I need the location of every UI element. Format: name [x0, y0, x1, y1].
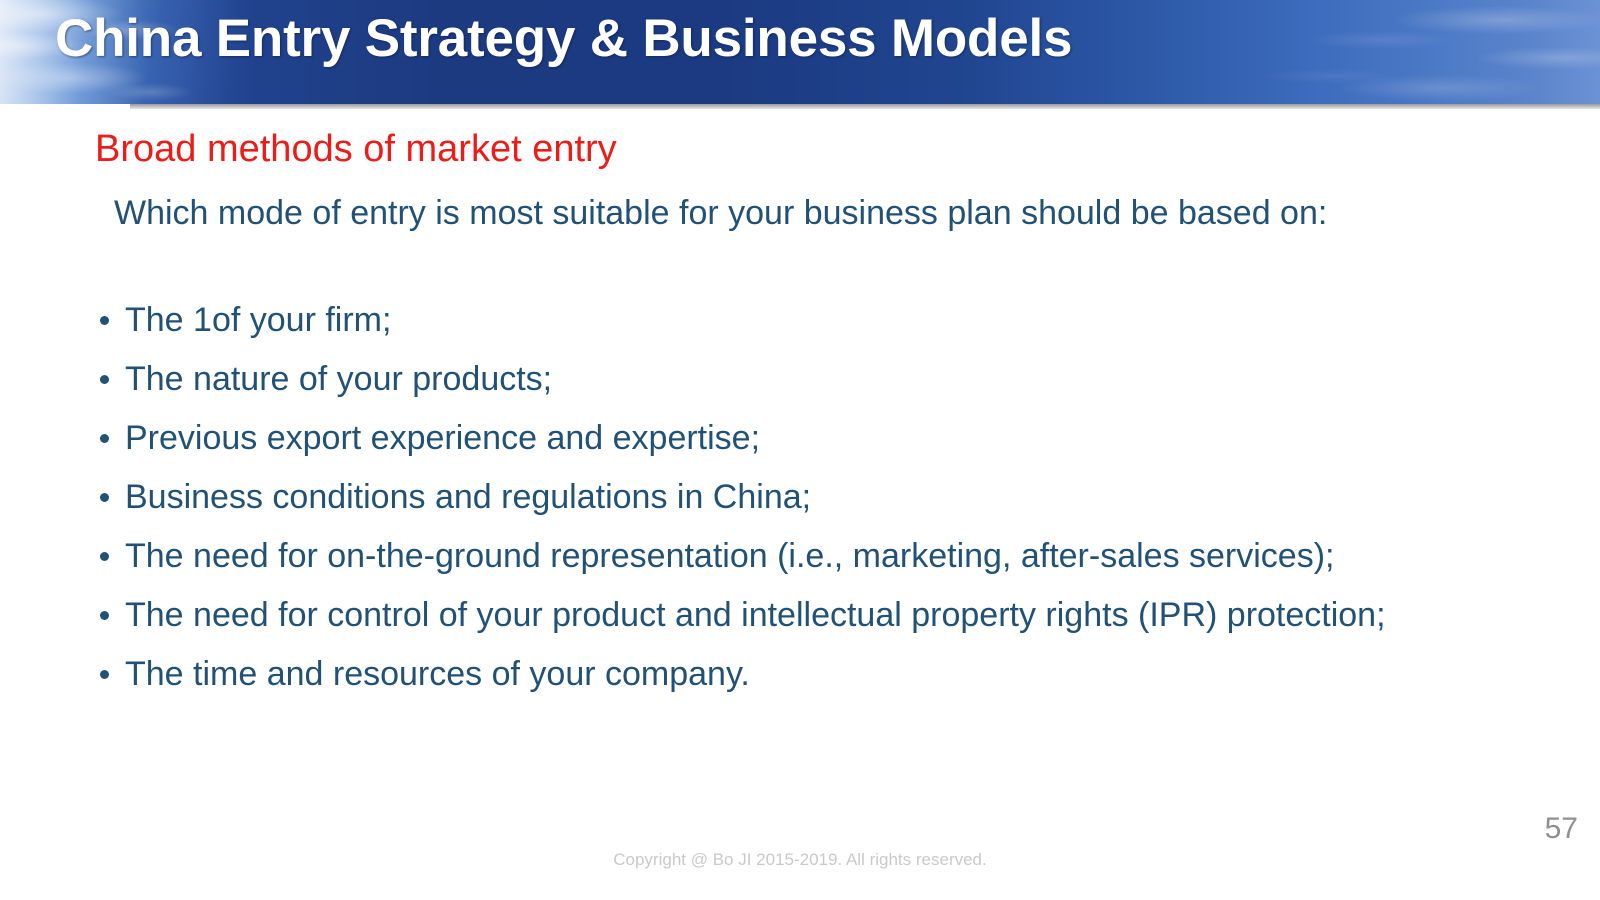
- title-banner: China Entry Strategy & Business Models: [0, 0, 1600, 104]
- list-item-label: The need for on-the-ground representatio…: [125, 537, 1334, 575]
- bullet-dot-icon: [100, 434, 109, 443]
- bullet-dot-icon: [100, 493, 109, 502]
- section-heading: Broad methods of market entry: [95, 128, 617, 171]
- bullet-list: The 1of your firm; The nature of your pr…: [95, 298, 1515, 711]
- list-item-label: The need for control of your product and…: [125, 596, 1386, 634]
- page-number: 57: [1545, 812, 1578, 846]
- copyright-notice: Copyright @ Bo JI 2015-2019. All rights …: [0, 850, 1600, 870]
- bullet-dot-icon: [100, 316, 109, 325]
- list-item-label: The nature of your products;: [125, 360, 552, 398]
- slide-title: China Entry Strategy & Business Models: [55, 8, 1072, 69]
- bullet-dot-icon: [100, 611, 109, 620]
- bullet-dot-icon: [100, 670, 109, 679]
- list-item: Business conditions and regulations in C…: [95, 475, 1515, 520]
- list-item: The need for control of your product and…: [95, 593, 1515, 638]
- list-item-label: Previous export experience and expertise…: [125, 419, 760, 457]
- list-item: The nature of your products;: [95, 357, 1515, 402]
- list-item-label: The time and resources of your company.: [125, 655, 750, 693]
- list-item: The need for on-the-ground representatio…: [95, 534, 1515, 579]
- list-item: The time and resources of your company.: [95, 652, 1515, 697]
- bullet-dot-icon: [100, 552, 109, 561]
- list-item: Previous export experience and expertise…: [95, 416, 1515, 461]
- intro-paragraph: Which mode of entry is most suitable for…: [114, 188, 1434, 238]
- list-item-label: Business conditions and regulations in C…: [125, 478, 811, 516]
- list-item: The 1of your firm;: [95, 298, 1515, 343]
- bullet-dot-icon: [100, 375, 109, 384]
- list-item-label: The 1of your firm;: [125, 301, 391, 339]
- banner-drop-shadow: [130, 104, 1600, 109]
